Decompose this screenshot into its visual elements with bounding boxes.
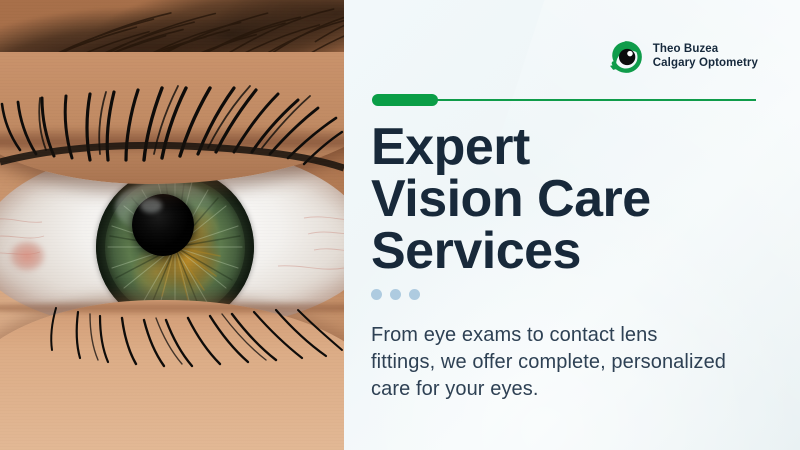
eye-photo xyxy=(0,0,344,450)
accent-rule xyxy=(372,94,756,106)
separator-dot xyxy=(409,289,420,300)
headline-line-3: Services xyxy=(371,225,791,277)
brand-tagline: Calgary Optometry xyxy=(653,57,758,71)
eye-logo-mark xyxy=(607,38,645,76)
subheading-text: From eye exams to contact lens fittings,… xyxy=(371,322,727,403)
headline-line-1: Expert xyxy=(371,121,791,173)
page-title: Expert Vision Care Services xyxy=(371,121,791,277)
brand-logo[interactable]: Theo Buzea Calgary Optometry xyxy=(607,38,758,76)
separator-dot xyxy=(390,289,401,300)
marketing-banner: Theo Buzea Calgary Optometry Expert Visi… xyxy=(0,0,800,450)
brand-wordmark: Theo Buzea Calgary Optometry xyxy=(653,43,758,70)
accent-rule-pill xyxy=(372,94,438,106)
headline-line-2: Vision Care xyxy=(371,173,791,225)
brand-name: Theo Buzea xyxy=(653,43,758,57)
separator-dot xyxy=(371,289,382,300)
dot-separator xyxy=(371,289,420,300)
accent-rule-line xyxy=(434,99,756,102)
photo-grain xyxy=(0,0,344,450)
